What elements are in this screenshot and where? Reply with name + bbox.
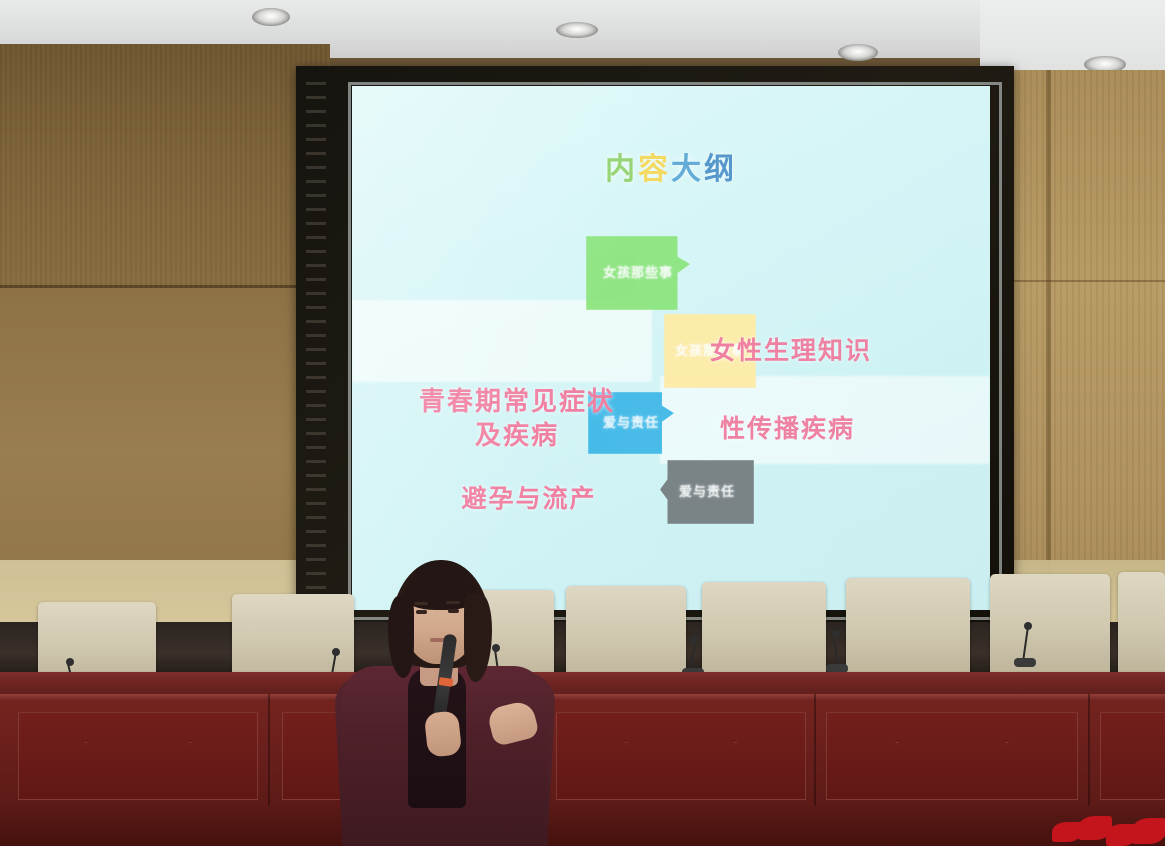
slide-label-puberty-symptoms: 青春期常见症状 及疾病 — [388, 384, 646, 452]
podium-panel — [18, 712, 258, 800]
title-char-4: 纲 — [704, 144, 737, 188]
title-char-3: 大 — [671, 144, 704, 188]
chevron-green: 女孩那些事 — [586, 236, 690, 310]
eye-left — [416, 610, 427, 614]
projected-slide: 内容大纲 女孩那些事 女孩那些事 爱与责任 爱与责任 女性生理知识 青春期常见症… — [352, 86, 990, 610]
screen-frame-texture — [306, 82, 326, 622]
ceiling-downlight-icon — [838, 44, 878, 61]
chair — [702, 582, 826, 680]
speaker-person — [330, 556, 560, 846]
flower-petal — [1132, 818, 1165, 844]
chair — [990, 574, 1110, 676]
chair — [566, 586, 686, 682]
presentation-photo: 内容大纲 女孩那些事 女孩那些事 爱与责任 爱与责任 女性生理知识 青春期常见症… — [0, 0, 1165, 846]
eyebrow-left — [414, 602, 428, 605]
slide-label-contraception: 避孕与流产 — [424, 482, 634, 516]
chevron-gray: 爱与责任 — [660, 460, 754, 524]
flower-arrangement — [1048, 812, 1165, 846]
microphone-head-icon — [690, 636, 698, 644]
title-char-1: 内 — [605, 144, 638, 188]
slide-label-std: 性传播疾病 — [720, 412, 855, 446]
podium-panel — [826, 712, 1078, 800]
podium-desk-lip — [0, 694, 1165, 701]
wall-seam — [0, 285, 330, 288]
ceiling-downlight-icon — [556, 22, 598, 38]
microphone-head-icon — [1024, 622, 1032, 630]
eye-right — [448, 609, 459, 613]
title-char-2: 容 — [638, 144, 671, 188]
ceiling-downlight-icon — [252, 8, 290, 26]
chair — [1118, 572, 1165, 676]
microphone-head-icon — [66, 658, 74, 666]
slide-white-band-left — [352, 300, 652, 382]
microphone-head-icon — [832, 630, 840, 638]
hand-holding-microphone — [424, 710, 462, 757]
podium-desk-base — [0, 806, 1165, 846]
eyebrow-right — [446, 601, 460, 604]
slide-title: 内容大纲 — [352, 144, 990, 188]
chair — [846, 578, 970, 678]
wall-seam — [1006, 280, 1165, 282]
slide-label-female-physiology: 女性生理知识 — [710, 334, 872, 368]
slide-label-puberty-line2: 及疾病 — [388, 418, 646, 452]
chevron-green-label: 女孩那些事 — [597, 265, 679, 281]
podium-panel — [556, 712, 806, 800]
podium-panel — [1100, 712, 1165, 800]
chevron-gray-label: 爱与责任 — [673, 484, 741, 500]
chair-row — [0, 576, 1165, 686]
slide-label-puberty-line1: 青春期常见症状 — [388, 384, 646, 418]
microphone-base — [1014, 658, 1036, 667]
